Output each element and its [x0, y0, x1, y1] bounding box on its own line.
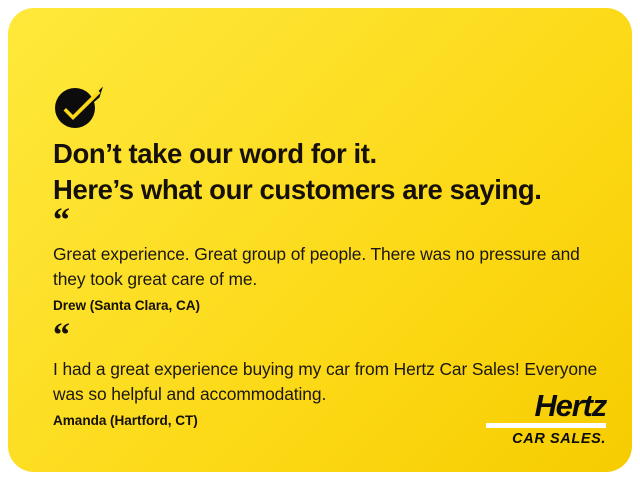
logo-subtitle: CAR SALES. [470, 431, 606, 448]
quote-mark-icon: “ [53, 329, 598, 347]
check-circle-icon [54, 84, 106, 130]
testimonial-text: Great experience. Great group of people.… [53, 242, 598, 292]
headline-line-2: Here’s what our customers are saying. [53, 172, 598, 208]
hertz-car-sales-logo: Hertz CAR SALES. [470, 390, 606, 448]
page-title: Don’t take our word for it. Here’s what … [53, 136, 598, 208]
testimonial-card: Don’t take our word for it. Here’s what … [8, 8, 632, 472]
logo-wordmark: Hertz [470, 390, 606, 422]
headline-line-1: Don’t take our word for it. [53, 136, 598, 172]
testimonial-attribution: Drew (Santa Clara, CA) [53, 296, 598, 315]
quote-mark-icon: “ [53, 214, 598, 232]
testimonial-item: “ Great experience. Great group of peopl… [53, 214, 598, 315]
logo-underline-bar [486, 423, 606, 428]
